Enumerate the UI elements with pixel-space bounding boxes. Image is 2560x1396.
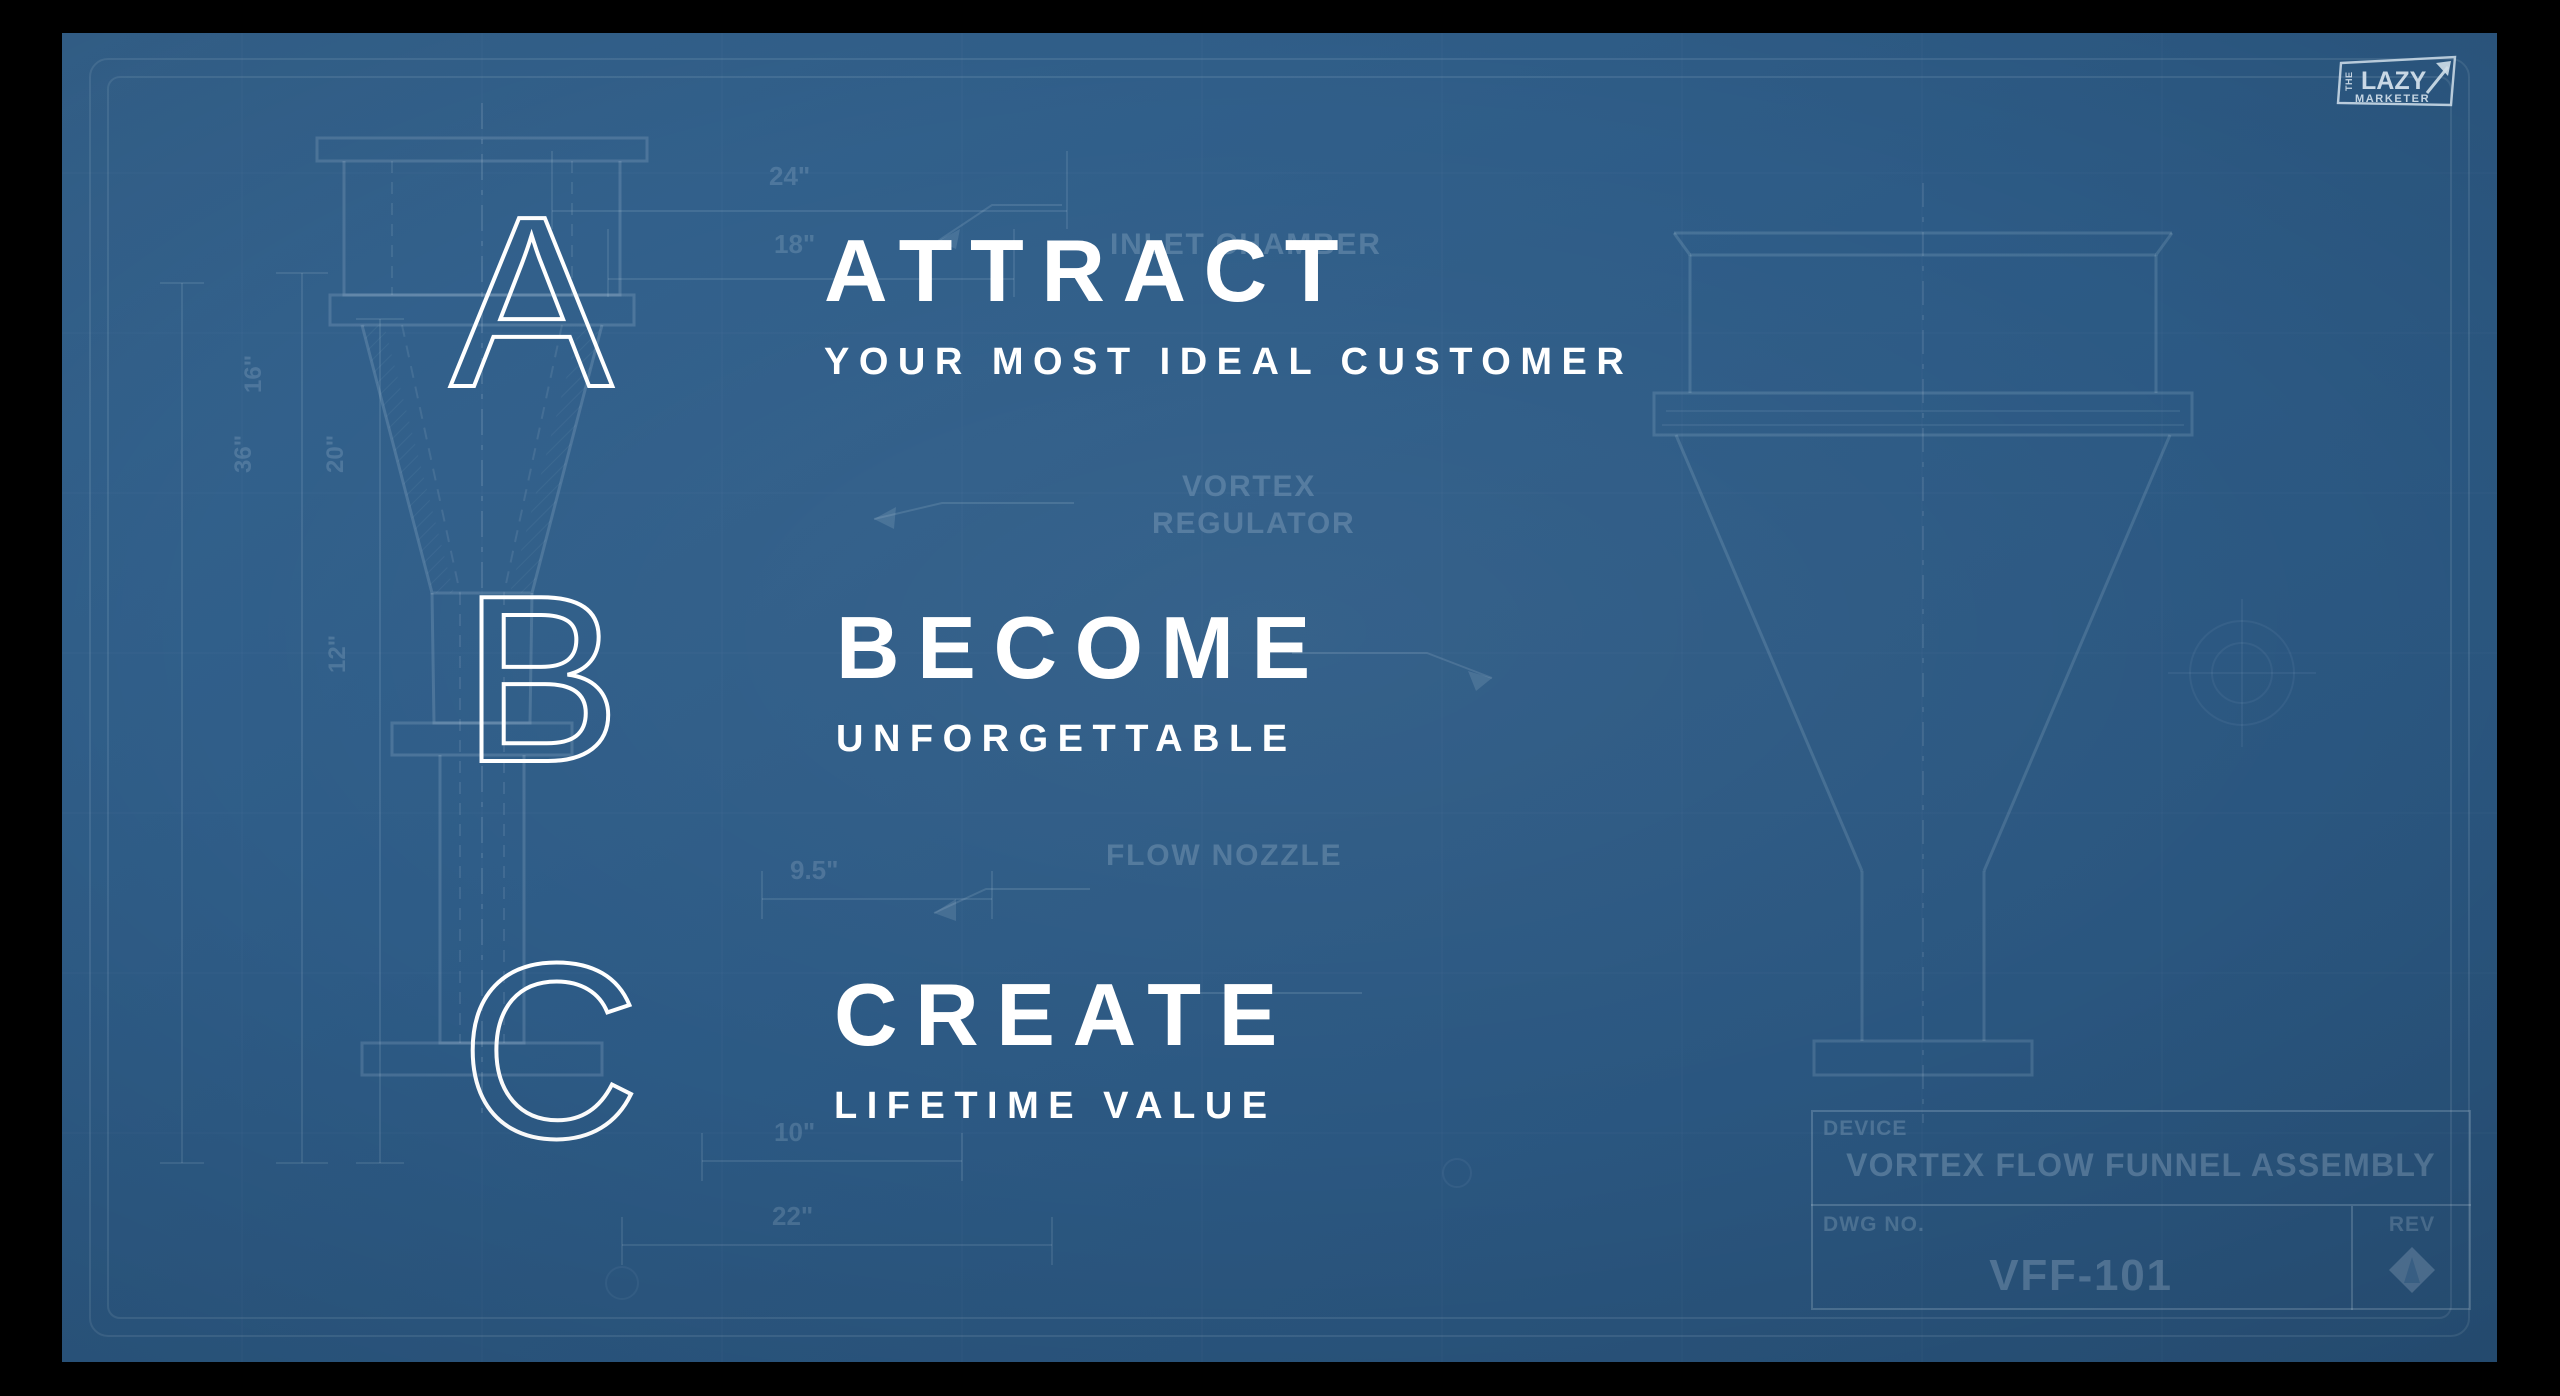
subheading-create: LIFETIME VALUE — [834, 1087, 1295, 1125]
slide-stage: INLET CHAMBER VORTEX REGULATOR FLOW NOZZ… — [0, 0, 2560, 1396]
subheading-attract: YOUR MOST IDEAL CUSTOMER — [824, 343, 1633, 381]
framework-row-become: B BECOME UNFORGETTABLE — [462, 578, 1328, 783]
framework-row-create-text: CREATE LIFETIME VALUE — [834, 943, 1295, 1125]
heading-create: CREATE — [834, 971, 1295, 1059]
slide-canvas: INLET CHAMBER VORTEX REGULATOR FLOW NOZZ… — [62, 33, 2497, 1362]
framework-row-create: C CREATE LIFETIME VALUE — [460, 943, 1295, 1158]
subheading-become: UNFORGETTABLE — [836, 720, 1328, 758]
outline-letter-c: C — [460, 943, 690, 1158]
svg-text:MARKETER: MARKETER — [2355, 93, 2430, 105]
svg-text:LAZY: LAZY — [2361, 67, 2427, 95]
framework-row-attract-text: ATTRACT YOUR MOST IDEAL CUSTOMER — [824, 197, 1633, 381]
framework-row-attract: A ATTRACT YOUR MOST IDEAL CUSTOMER — [450, 197, 1633, 407]
outline-letter-b: B — [462, 578, 692, 783]
heading-attract: ATTRACT — [824, 227, 1633, 315]
abc-framework-list: A ATTRACT YOUR MOST IDEAL CUSTOMER B BEC… — [62, 33, 2497, 1362]
the-lazy-marketer-logo[interactable]: THE LAZY MARKETER — [2335, 51, 2463, 113]
outline-letter-a: A — [450, 197, 680, 407]
heading-become: BECOME — [836, 604, 1328, 692]
svg-text:THE: THE — [2344, 72, 2354, 92]
framework-row-become-text: BECOME UNFORGETTABLE — [836, 578, 1328, 758]
